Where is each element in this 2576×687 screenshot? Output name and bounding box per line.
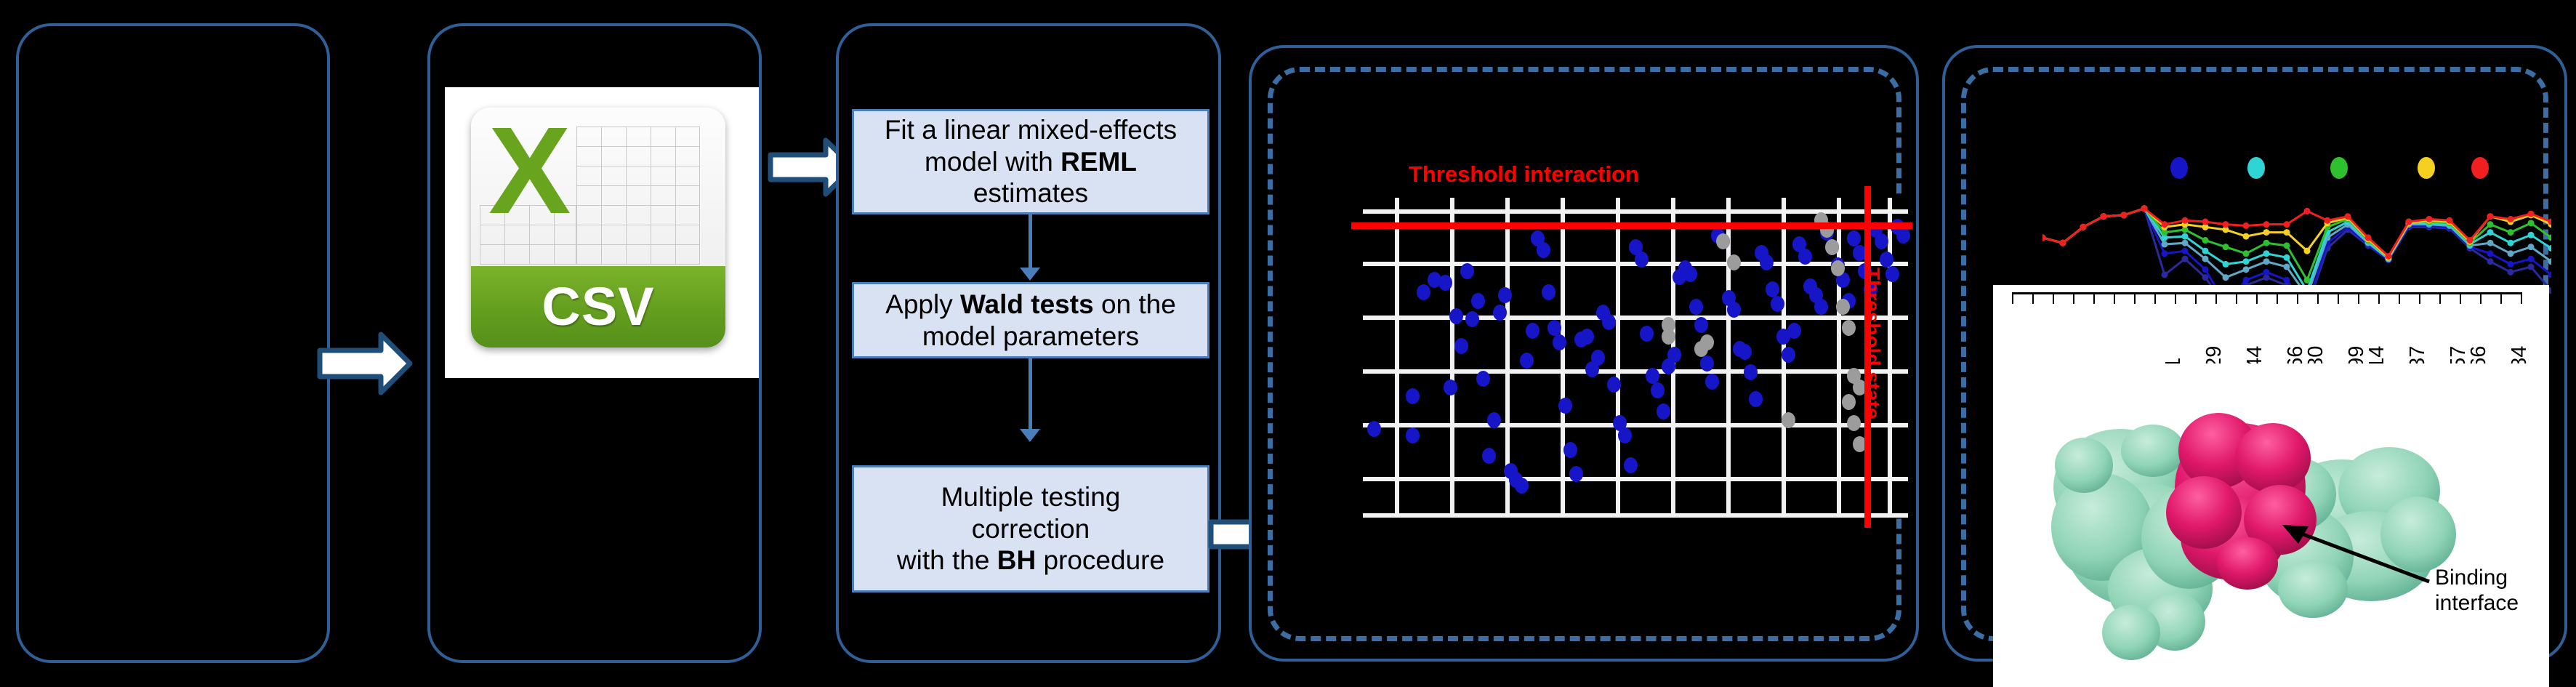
peptide-data-point: [2487, 258, 2494, 265]
peptide-data-point: [2182, 217, 2189, 224]
scatter-point: [1367, 421, 1381, 437]
csv-file-icon[interactable]: X CSV: [471, 108, 725, 347]
peptide-data-point: [2447, 217, 2453, 224]
x-tick: [2460, 292, 2461, 304]
peptide-data-point: [2284, 229, 2290, 236]
binding-interface-label: Binding interface: [2435, 566, 2519, 616]
x-tick: [2521, 292, 2522, 304]
scatter-point: [1727, 254, 1741, 270]
peptide-data-point: [2263, 240, 2270, 246]
peptide-data-point: [2243, 258, 2250, 265]
peptide-data-point: [2528, 244, 2535, 250]
peptide-data-point: [2284, 254, 2290, 261]
gridline-h: [1363, 209, 1908, 214]
x-tick: [2195, 292, 2197, 304]
gridline-h: [1363, 477, 1908, 481]
step-box-reml[interactable]: Fit a linear mixed-effects model with RE…: [852, 109, 1209, 214]
step-wald-text: Apply Wald tests on the model parameters: [864, 289, 1197, 352]
peptide-data-point: [2263, 221, 2270, 228]
peptide-data-point: [2487, 250, 2494, 257]
scatter-point: [1417, 284, 1430, 300]
scatter-point: [1689, 299, 1703, 315]
x-tick: [2134, 292, 2136, 304]
peptide-data-point: [2202, 219, 2209, 225]
x-tick: [2439, 292, 2441, 304]
peptide-data-point: [2508, 216, 2514, 222]
peptide-data-point: [2528, 211, 2535, 217]
scatter-point: [1782, 347, 1795, 363]
connector-wald-bh: [1029, 358, 1032, 430]
peptide-data-point: [2304, 248, 2311, 254]
peptide-data-point: [2508, 261, 2514, 268]
scatter-point: [1640, 326, 1654, 342]
peptide-data-point: [2263, 269, 2270, 276]
scatter-point: [1657, 403, 1670, 419]
x-tick: [2053, 292, 2054, 304]
peptide-data-point: [2528, 220, 2535, 226]
step-box-bh[interactable]: Multiple testing correction with the BH …: [852, 465, 1209, 592]
peptide-data-point: [2487, 221, 2494, 228]
x-tick: [2317, 292, 2319, 304]
step-bh-line2: correction: [897, 513, 1164, 545]
peptide-data-point: [2121, 212, 2128, 218]
peptide-data-point: [2080, 224, 2087, 230]
x-tick: [2500, 292, 2502, 304]
peptide-data-point: [2284, 221, 2290, 228]
peptide-data-point: [2223, 244, 2229, 250]
scatter-point: [1782, 412, 1795, 428]
gridline-v: [1888, 198, 1892, 518]
peptide-data-point: [2345, 213, 2351, 220]
peptide-data-point: [2386, 253, 2392, 260]
scatter-point: [1885, 266, 1899, 282]
peptide-data-point: [2182, 248, 2189, 254]
scatter-point: [1694, 341, 1708, 357]
peptide-data-point: [2304, 208, 2311, 214]
x-tick: [2480, 292, 2482, 304]
scatter-point: [1667, 347, 1681, 363]
scatter-point: [1591, 350, 1605, 366]
peptide-data-point: [2467, 237, 2474, 244]
binding-interface-line2: interface: [2435, 591, 2519, 616]
scatter-point: [1875, 233, 1888, 249]
x-tick: [2073, 292, 2074, 304]
scatter-plot: [1363, 198, 1908, 518]
peptide-data-point: [2202, 237, 2209, 244]
gridline-v: [1450, 198, 1454, 518]
peptide-data-point: [2528, 264, 2535, 270]
peptide-data-point: [2487, 213, 2494, 220]
x-tick: [2032, 292, 2034, 304]
peptide-data-point: [2487, 229, 2494, 236]
peptide-data-point: [2508, 250, 2514, 257]
peptide-data-point: [2182, 233, 2189, 240]
scatter-point: [1651, 382, 1665, 398]
connector-reml-wald: [1029, 214, 1032, 269]
x-tick: [2175, 292, 2176, 304]
x-tick: [2236, 292, 2237, 304]
x-tick: [2378, 292, 2380, 304]
peptide-data-point: [2223, 261, 2229, 268]
scatter-point: [1646, 368, 1659, 384]
scatter-point: [1842, 320, 1856, 336]
scatter-point: [1558, 398, 1572, 414]
peptide-data-point: [2284, 264, 2290, 270]
gridline-v: [1395, 198, 1399, 518]
scatter-point: [1476, 371, 1490, 387]
peptide-data-point: [2243, 233, 2250, 240]
step-bh-text: Multiple testing correction with the BH …: [897, 481, 1164, 576]
scatter-point: [1454, 338, 1468, 354]
connector-arrowhead-2: [1020, 429, 1040, 442]
peptide-data-point: [2223, 221, 2229, 228]
scatter-point: [1694, 317, 1708, 333]
scatter-point: [1618, 427, 1632, 443]
peptide-data-point: [2162, 271, 2168, 278]
gridline-h: [1363, 316, 1908, 320]
step-bh-line3: with the BH procedure: [897, 545, 1164, 576]
scatter-point: [1537, 242, 1550, 258]
scatter-point: [1580, 329, 1594, 345]
scatter-point: [1771, 296, 1784, 312]
scatter-point: [1624, 457, 1638, 473]
scatter-point: [1406, 427, 1420, 443]
scatter-point: [1880, 252, 1893, 268]
step-bh-line1: Multiple testing: [897, 481, 1164, 513]
peptide-data-point: [2182, 256, 2189, 262]
peptide-data-point: [2508, 229, 2514, 236]
panel-data-source: [16, 23, 330, 663]
scatter-point: [1738, 344, 1752, 360]
peptide-data-point: [2101, 213, 2107, 220]
scatter-point: [1766, 281, 1779, 297]
x-tick: [2399, 292, 2400, 304]
scatter-point: [1438, 275, 1452, 291]
connector-arrowhead-1: [1020, 268, 1040, 281]
threshold-interaction-label: Threshold interaction: [1409, 161, 1639, 188]
scatter-point: [1563, 442, 1577, 458]
peptide-data-point: [2042, 234, 2046, 241]
scatter-point: [1705, 374, 1719, 390]
scatter-point: [1847, 415, 1861, 431]
scatter-point: [1814, 299, 1828, 315]
scatter-point: [1487, 412, 1501, 428]
peptide-data-point: [2508, 269, 2514, 276]
peptide-data-point: [2202, 256, 2209, 262]
scatter-point: [1520, 353, 1534, 369]
peptide-data-point: [2243, 222, 2250, 229]
x-tick: [2215, 292, 2217, 304]
peptide-data-point: [2202, 266, 2209, 273]
peptide-data-point: [2263, 250, 2270, 257]
scatter-point: [1896, 228, 1910, 244]
x-tick: [2154, 292, 2156, 304]
x-tick: [2277, 292, 2278, 304]
peptide-data-point: [2284, 277, 2290, 284]
scatter-point: [1836, 299, 1850, 315]
scatter-point: [1526, 323, 1539, 339]
scatter-point: [1760, 254, 1774, 270]
peptide-data-point: [2365, 234, 2372, 241]
gridline-v: [1561, 198, 1565, 518]
gridline-h: [1363, 423, 1908, 427]
peptide-data-point: [2406, 219, 2412, 225]
scatter-point: [1744, 364, 1758, 380]
peptide-data-point: [2487, 240, 2494, 246]
scatter-point: [1465, 311, 1479, 327]
scatter-point: [1498, 287, 1512, 303]
peptide-data-point: [2243, 266, 2250, 273]
x-axis-line: [2012, 292, 2521, 294]
scatter-point: [1449, 308, 1463, 324]
csv-grid-right: [576, 126, 700, 265]
gridline-h: [1363, 513, 1908, 518]
scatter-point: [1683, 266, 1697, 282]
x-tick: [2093, 292, 2095, 304]
csv-caption: CSV: [542, 276, 654, 337]
peptide-data-point: [2263, 229, 2270, 236]
x-tick: [2114, 292, 2115, 304]
binding-interface-line1: Binding: [2435, 566, 2519, 591]
x-tick: [2358, 292, 2359, 304]
threshold-interaction-line: [1351, 222, 1912, 229]
peptide-data-point: [2162, 241, 2168, 248]
peptide-data-point: [2426, 216, 2433, 222]
peptide-data-point: [2243, 250, 2250, 257]
scatter-point: [1515, 478, 1529, 494]
scatter-point: [1700, 355, 1714, 371]
x-tick: [2256, 292, 2258, 304]
scatter-point: [1831, 260, 1845, 276]
peptide-data-point: [2182, 240, 2189, 246]
scatter-point: [1471, 293, 1485, 309]
scatter-point: [1542, 284, 1555, 300]
peptide-data-point: [2141, 205, 2148, 212]
peptide-data-point: [2162, 221, 2168, 228]
x-tick: [2012, 292, 2013, 304]
scatter-point: [1569, 466, 1583, 482]
peptide-data-point: [2162, 250, 2168, 257]
csv-band: CSV: [471, 266, 725, 347]
peptide-data-point: [2263, 258, 2270, 265]
x-tick: [2297, 292, 2298, 304]
scatter-point: [1444, 379, 1457, 395]
scatter-point: [1847, 230, 1861, 246]
scatter-point: [1547, 320, 1561, 336]
scatter-point: [1493, 305, 1507, 321]
protein-structure-card: Binding interface: [1993, 363, 2549, 687]
peptide-data-point: [2223, 274, 2229, 281]
gridline-h: [1363, 369, 1908, 374]
threshold-state-label: Threshold state: [1861, 268, 1884, 419]
x-tick: [2338, 292, 2339, 304]
scatter-point: [1716, 233, 1730, 249]
scatter-point: [1842, 394, 1856, 410]
scatter-point: [1482, 448, 1496, 464]
scatter-point: [1602, 314, 1616, 330]
step-box-wald[interactable]: Apply Wald tests on the model parameters: [852, 282, 1209, 358]
arrow-1: [314, 329, 416, 398]
peptide-data-point: [2304, 277, 2311, 284]
peptide-data-point: [2202, 248, 2209, 254]
scatter-point: [1787, 323, 1801, 339]
scatter-point: [1406, 388, 1420, 404]
scatter-point: [1635, 252, 1649, 268]
peptide-data-point: [2243, 277, 2250, 284]
gridline-v: [1616, 198, 1620, 518]
peptide-data-point: [2528, 256, 2535, 262]
peptide-data-point: [2325, 217, 2331, 224]
peptide-data-point: [2284, 242, 2290, 249]
peptide-data-point: [2060, 240, 2066, 246]
excel-x-letter: X: [488, 109, 571, 233]
scatter-point: [1798, 249, 1812, 265]
scatter-point: [1749, 391, 1763, 407]
protein-surface-figure: [1993, 363, 2549, 687]
peptide-data-point: [2528, 232, 2535, 238]
scatter-point: [1460, 263, 1474, 279]
peptide-data-point: [2508, 240, 2514, 246]
step-reml-text: Fit a linear mixed-effects model with RE…: [864, 114, 1197, 209]
scatter-point: [1607, 377, 1621, 393]
x-tick: [2419, 292, 2420, 304]
